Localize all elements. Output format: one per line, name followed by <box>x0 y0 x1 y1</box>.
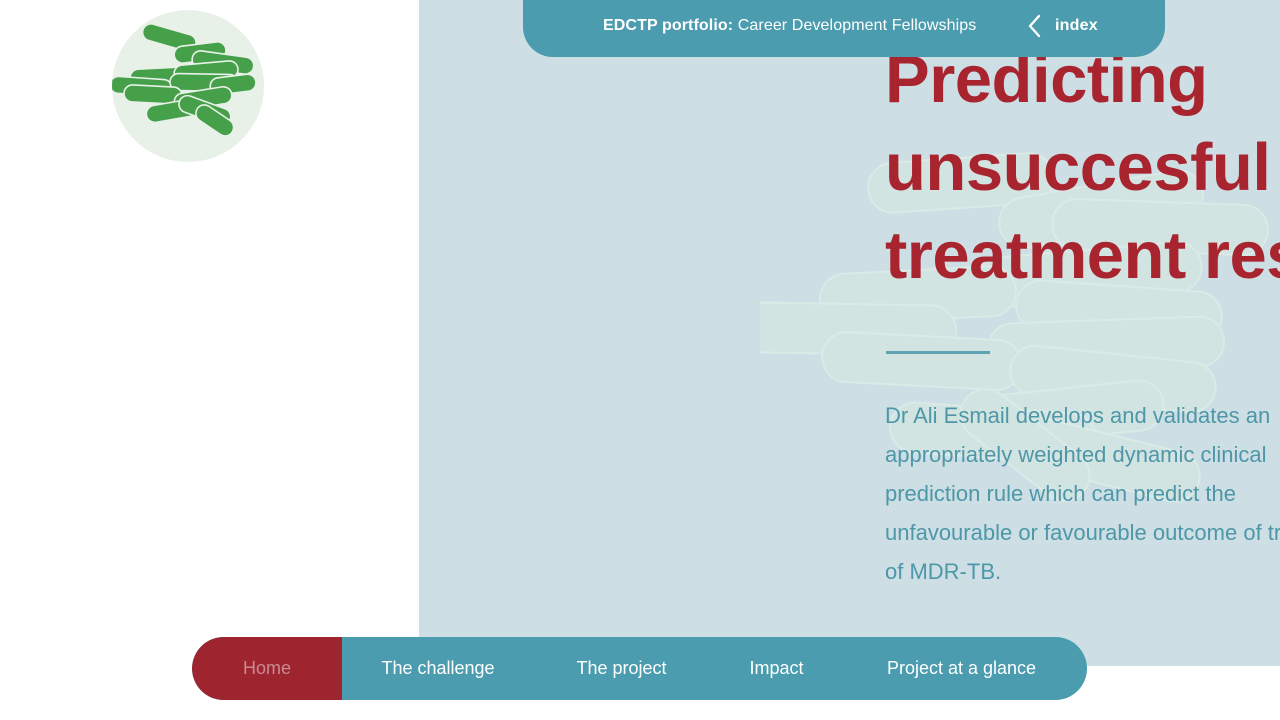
breadcrumb: EDCTP portfolio: Career Development Fell… <box>603 17 976 35</box>
top-breadcrumb-bar: EDCTP portfolio: Career Development Fell… <box>523 0 1165 57</box>
chevron-left-icon <box>1028 14 1041 38</box>
project-description: Dr Ali Esmail develops and validates an … <box>885 396 1280 591</box>
breadcrumb-portfolio-value: Career Development Fellowships <box>738 17 977 34</box>
nav-item-the-project[interactable]: The project <box>534 637 709 700</box>
index-back-link[interactable]: index <box>1028 14 1098 38</box>
nav-item-project-at-a-glance[interactable]: Project at a glance <box>844 637 1079 700</box>
nav-item-impact[interactable]: Impact <box>709 637 844 700</box>
tb-bacteria-badge-icon <box>112 10 264 162</box>
nav-item-home[interactable]: Home <box>192 637 342 700</box>
title-divider <box>886 351 990 354</box>
bottom-nav-bar: Home The challenge The project Impact Pr… <box>192 637 1087 700</box>
page-root: Predicting unsuccesful MDR-TB treatment … <box>0 0 1280 720</box>
breadcrumb-separator: : <box>728 17 733 34</box>
index-label: index <box>1055 17 1098 35</box>
left-sidebar <box>0 0 419 720</box>
breadcrumb-portfolio-label: EDCTP portfolio <box>603 17 728 34</box>
main-content-panel: Predicting unsuccesful MDR-TB treatment … <box>419 0 1280 666</box>
page-title: Predicting unsuccesful MDR-TB treatment … <box>885 36 1280 300</box>
nav-item-the-challenge[interactable]: The challenge <box>342 637 534 700</box>
